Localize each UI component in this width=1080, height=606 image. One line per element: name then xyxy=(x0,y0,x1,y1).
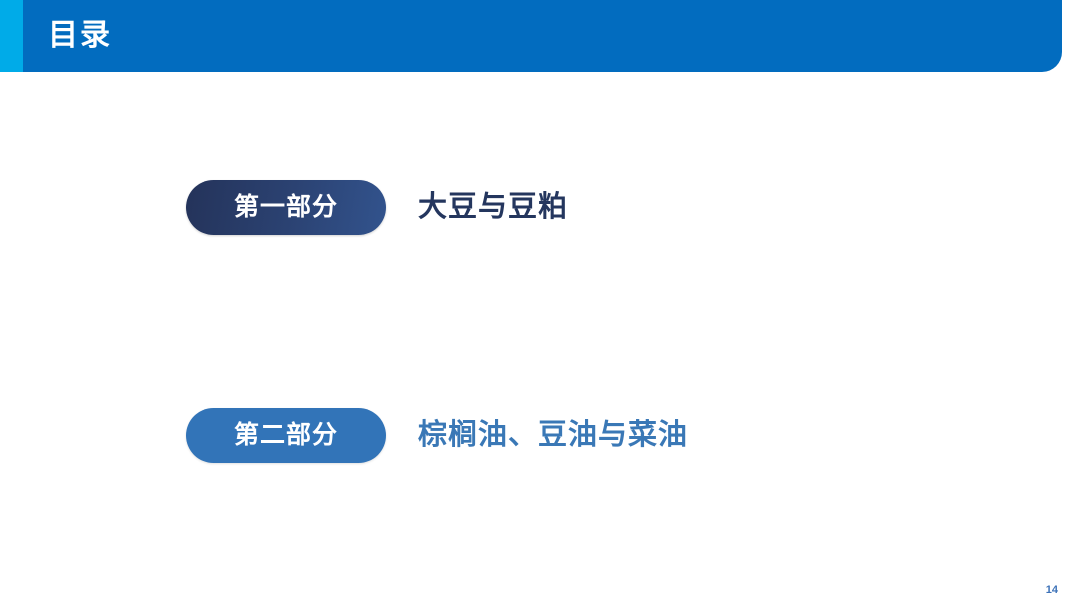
section-pill-2[interactable]: 第二部分 xyxy=(186,408,386,463)
section-heading-2[interactable]: 棕榈油、豆油与菜油 xyxy=(418,421,688,450)
header-accent-strip xyxy=(0,0,23,72)
section-heading-1[interactable]: 大豆与豆粕 xyxy=(418,193,568,222)
page-number: 14 xyxy=(1046,585,1058,596)
section-pill-1[interactable]: 第一部分 xyxy=(186,180,386,235)
section-row-2: 第二部分 棕榈油、豆油与菜油 xyxy=(186,408,688,463)
section-row-1: 第一部分 大豆与豆粕 xyxy=(186,180,568,235)
section-pill-label-2: 第二部分 xyxy=(234,423,338,448)
header-banner: 目录 xyxy=(0,0,1062,72)
page-title: 目录 xyxy=(48,14,112,58)
section-pill-label-1: 第一部分 xyxy=(234,195,338,220)
slide-root: 目录 第一部分 大豆与豆粕 第二部分 棕榈油、豆油与菜油 14 xyxy=(0,0,1080,606)
header-band-background xyxy=(23,0,1062,72)
